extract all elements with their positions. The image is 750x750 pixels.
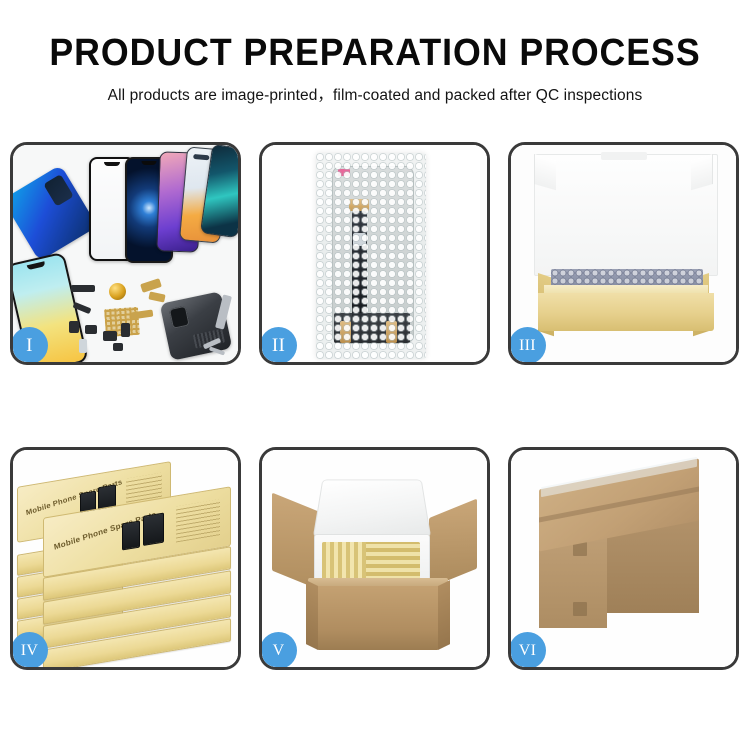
step-badge-3: III xyxy=(511,327,546,362)
process-step-grid: I II xyxy=(10,142,740,670)
step-6-photo: VI xyxy=(511,450,736,667)
step-3-photo: III xyxy=(511,145,736,362)
step-4-photo: Mobile Phone Spare Parts Mobile Phone Sp… xyxy=(13,450,238,667)
yellow-box-front-icon xyxy=(538,293,714,331)
small-part-icon xyxy=(69,321,79,333)
step-2-photo: II xyxy=(262,145,487,362)
gold-chip-icon xyxy=(109,283,126,300)
header: PRODUCT PREPARATION PROCESS All products… xyxy=(0,0,750,105)
bubble-texture-icon xyxy=(316,153,426,359)
process-step-panel-1[interactable]: I xyxy=(10,142,241,365)
process-step-panel-5[interactable]: V xyxy=(259,447,490,670)
page-title: PRODUCT PREPARATION PROCESS xyxy=(23,34,728,74)
step-badge-1: I xyxy=(13,327,48,362)
process-step-panel-4[interactable]: Mobile Phone Spare Parts Mobile Phone Sp… xyxy=(10,447,241,670)
box-flap-left-icon xyxy=(534,154,556,190)
process-step-panel-6[interactable]: VI xyxy=(508,447,739,670)
box-lid-tab-icon xyxy=(601,152,647,160)
small-part-icon xyxy=(121,323,130,337)
step-badge-4: IV xyxy=(13,632,48,667)
small-part-icon xyxy=(85,325,97,334)
page-subtitle: All products are image-printed，film-coat… xyxy=(0,83,750,105)
small-part-icon xyxy=(79,339,87,353)
foam-box-lid-icon xyxy=(313,480,431,538)
step-badge-2: II xyxy=(262,327,297,362)
step-1-photo: I xyxy=(13,145,238,362)
box-label-text: Mobile Phone Spare Parts xyxy=(53,510,157,552)
small-part-icon xyxy=(71,285,95,292)
carton-front-icon xyxy=(316,586,440,650)
small-part-icon xyxy=(113,343,123,351)
step-5-photo: V xyxy=(262,450,487,667)
small-part-icon xyxy=(103,331,117,341)
box-flap-right-icon xyxy=(691,154,713,190)
step-badge-6: VI xyxy=(511,632,546,667)
process-step-panel-2[interactable]: II xyxy=(259,142,490,365)
step-badge-5: V xyxy=(262,632,297,667)
process-step-panel-3[interactable]: III xyxy=(508,142,739,365)
bubble-wrap-bag-icon xyxy=(316,153,426,359)
